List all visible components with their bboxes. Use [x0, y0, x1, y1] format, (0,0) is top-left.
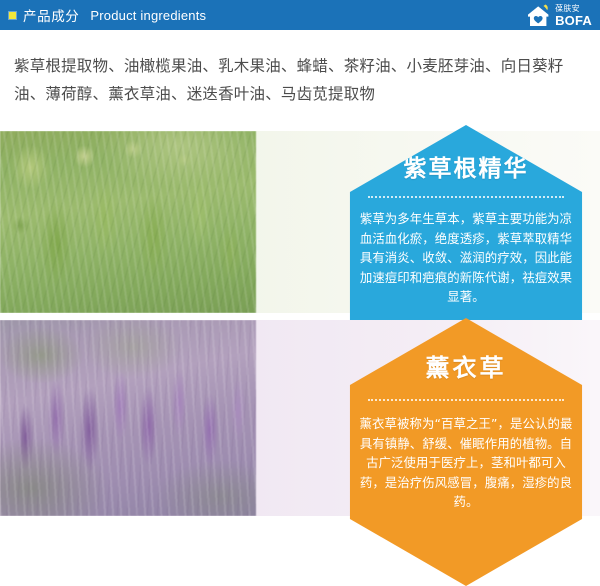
page-title-en: Product ingredients: [90, 8, 206, 23]
page-title-cn: 产品成分: [23, 5, 79, 25]
product-ingredients-page: 产品成分 Product ingredients 葆肤安 BOFA 紫草根提取物…: [0, 0, 600, 516]
card-title: 紫草根精华: [404, 149, 529, 183]
header-title-group: 产品成分 Product ingredients: [0, 5, 600, 25]
house-heart-logo-icon: [525, 3, 552, 28]
brand-logo: 葆肤安 BOFA: [525, 2, 592, 29]
herb-foliage-photo: [0, 131, 256, 313]
brand-logo-text: 葆肤安 BOFA: [555, 5, 592, 27]
square-bullet-icon: [9, 12, 16, 19]
card-body: 紫草为多年生草本，紫草主要功能为凉血活血化瘀，绝度透疹，紫草萃取精华具有消炎、收…: [357, 209, 575, 307]
card-title: 薰衣草: [426, 348, 507, 383]
card-divider: [368, 399, 564, 401]
card-divider: [368, 196, 564, 198]
ingredients-paragraph: 紫草根提取物、油橄榄果油、乳木果油、蜂蜡、茶籽油、小麦胚芽油、向日葵籽油、薄荷醇…: [14, 52, 586, 108]
card-body: 薰衣草被称为“百草之王”，是公认的最具有镇静、舒缓、催眠作用的植物。自古广泛使用…: [357, 414, 575, 512]
brand-name-cn: 葆肤安: [555, 5, 592, 13]
brand-name-en: BOFA: [555, 14, 592, 27]
lavender-flowers-photo: [0, 320, 256, 516]
page-header: 产品成分 Product ingredients 葆肤安 BOFA: [0, 0, 600, 30]
